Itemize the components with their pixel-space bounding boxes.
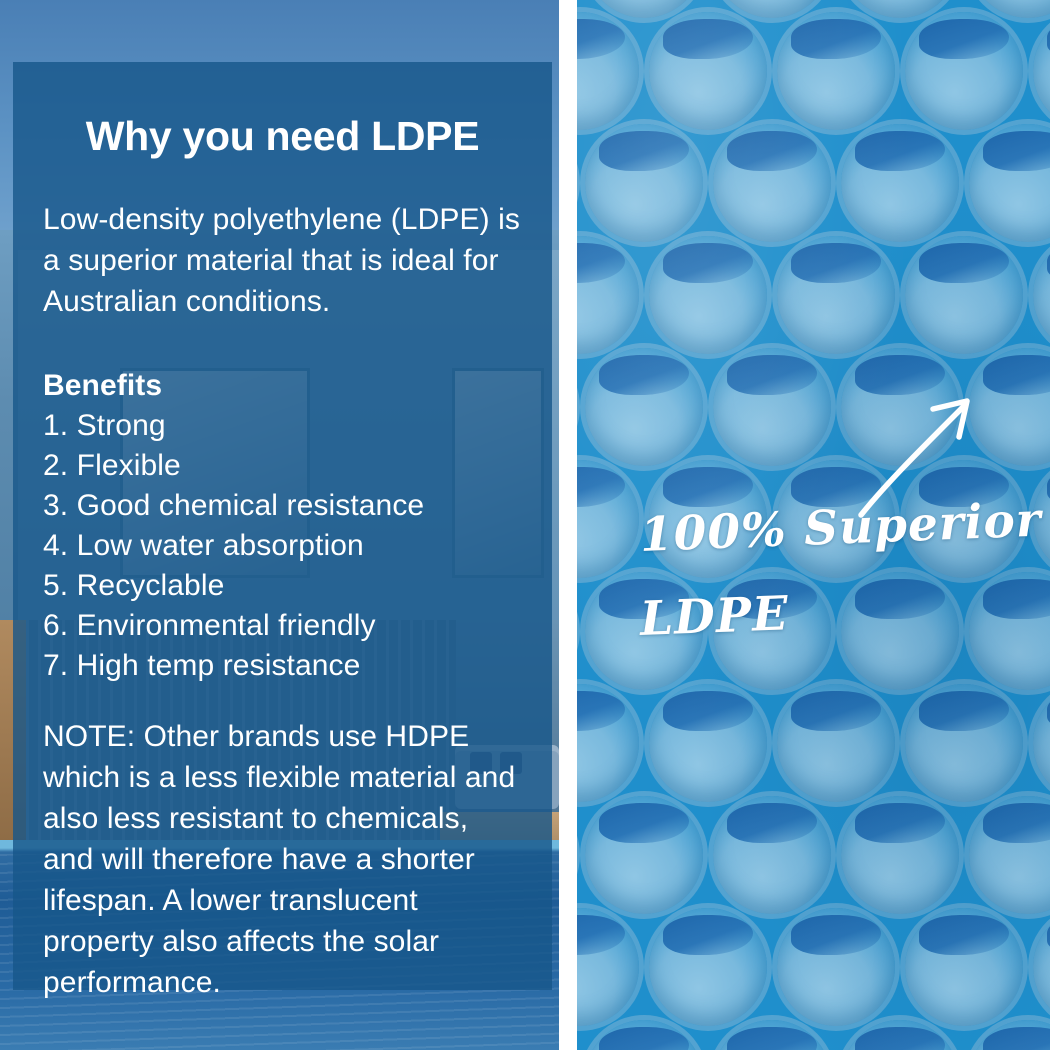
text-overlay-card: Why you need LDPE Low-density polyethyle… (13, 62, 552, 990)
bubble (713, 124, 831, 242)
bubble (777, 684, 895, 802)
bubble (969, 1020, 1050, 1050)
bubble (585, 348, 703, 466)
bubble (777, 12, 895, 130)
list-item: 7. High temp resistance (43, 646, 522, 686)
bubble (841, 796, 959, 914)
bubble (905, 908, 1023, 1026)
bubble (577, 908, 639, 1026)
bubble (905, 12, 1023, 130)
infographic-canvas: Why you need LDPE Low-density polyethyle… (0, 0, 1050, 1050)
bubble (1033, 12, 1050, 130)
left-panel: Why you need LDPE Low-density polyethyle… (0, 0, 559, 1050)
list-item: 1. Strong (43, 406, 522, 446)
bubble (1033, 684, 1050, 802)
bubble (777, 908, 895, 1026)
bubble (577, 684, 639, 802)
page-title: Why you need LDPE (43, 114, 522, 159)
bubble (1033, 908, 1050, 1026)
bubble (841, 572, 959, 690)
bubble (577, 12, 639, 130)
bubble (577, 460, 639, 578)
annotation-line-2: LDPE (639, 586, 790, 647)
bubble (585, 124, 703, 242)
bubble (905, 236, 1023, 354)
list-item: 3. Good chemical resistance (43, 486, 522, 526)
bubble (649, 684, 767, 802)
bubble (713, 796, 831, 914)
bubble (585, 796, 703, 914)
bubble (969, 124, 1050, 242)
note-paragraph: NOTE: Other brands use HDPE which is a l… (43, 716, 522, 1003)
bubble (777, 236, 895, 354)
list-item: 2. Flexible (43, 446, 522, 486)
bubble (649, 12, 767, 130)
list-item: 5. Recyclable (43, 566, 522, 606)
intro-paragraph: Low-density polyethylene (LDPE) is a sup… (43, 199, 522, 322)
bubble (969, 572, 1050, 690)
bubble (905, 684, 1023, 802)
bubble (841, 124, 959, 242)
bubble (649, 236, 767, 354)
list-item: 6. Environmental friendly (43, 606, 522, 646)
benefits-list: 1. Strong 2. Flexible 3. Good chemical r… (43, 406, 522, 686)
bubble (649, 908, 767, 1026)
bubble (713, 1020, 831, 1050)
benefits-heading: Benefits (43, 366, 522, 406)
panel-divider (559, 0, 577, 1050)
bubble (841, 1020, 959, 1050)
bubble (585, 1020, 703, 1050)
bubble (1033, 236, 1050, 354)
bubble (969, 796, 1050, 914)
bubble (577, 236, 639, 354)
list-item: 4. Low water absorption (43, 526, 522, 566)
bubble (713, 348, 831, 466)
